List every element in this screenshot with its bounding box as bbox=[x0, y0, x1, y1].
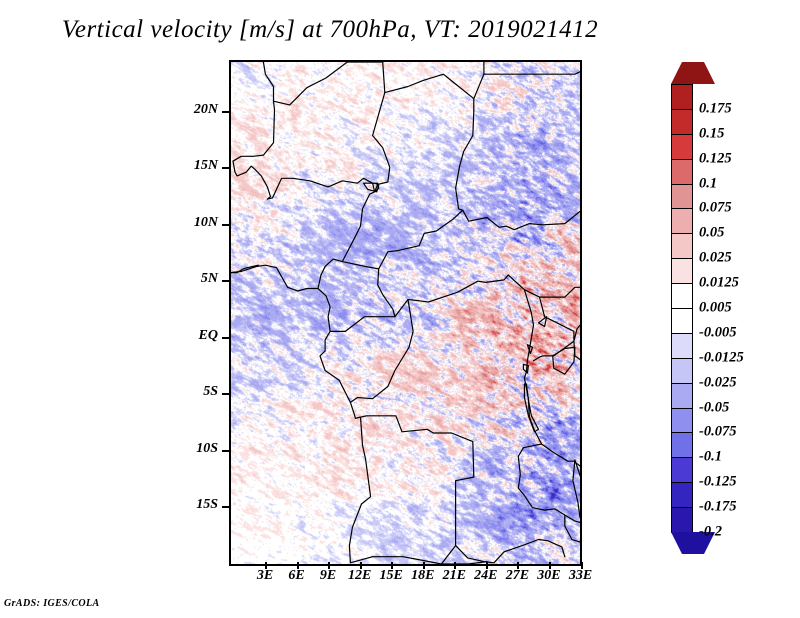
colorbar-label-13: -0.075 bbox=[699, 424, 736, 441]
colorbar-cell-14 bbox=[671, 432, 693, 458]
lon-label-24e: 24E bbox=[474, 568, 497, 584]
colorbar-cell-16 bbox=[671, 482, 693, 508]
colorbar-label-16: -0.175 bbox=[699, 499, 736, 516]
lon-label-9e: 9E bbox=[320, 568, 336, 584]
lat-tick-15s bbox=[222, 506, 229, 508]
colorbar-cell-1 bbox=[671, 109, 693, 135]
page-title: Vertical velocity [m/s] at 700hPa, VT: 2… bbox=[0, 16, 660, 44]
colorbar-label-11: -0.025 bbox=[699, 374, 736, 391]
lat-tick-20n bbox=[222, 111, 229, 113]
colorbar-max-arrow bbox=[671, 62, 715, 84]
colorbar-label-6: 0.025 bbox=[699, 250, 732, 267]
colorbar-label-12: -0.05 bbox=[699, 399, 729, 416]
colorbar-label-2: 0.125 bbox=[699, 150, 732, 167]
colorbar-cell-3 bbox=[671, 159, 693, 185]
lat-label-text: 5S bbox=[203, 384, 218, 400]
lat-tick-5s bbox=[222, 393, 229, 395]
lat-label-text: 15S bbox=[196, 497, 218, 513]
colorbar-label-1: 0.15 bbox=[699, 125, 724, 142]
colorbar-label-10: -0.0125 bbox=[699, 349, 744, 366]
colorbar-cell-2 bbox=[671, 134, 693, 160]
colorbar-label-14: -0.1 bbox=[699, 449, 722, 466]
colorbar-cell-6 bbox=[671, 233, 693, 259]
lat-label-text: 10N bbox=[194, 215, 218, 231]
colorbar bbox=[671, 62, 693, 554]
vertical-velocity-field bbox=[231, 62, 580, 564]
lon-label-6e: 6E bbox=[288, 568, 304, 584]
colorbar-label-8: 0.005 bbox=[699, 300, 732, 317]
colorbar-cell-12 bbox=[671, 383, 693, 409]
colorbar-label-3: 0.1 bbox=[699, 175, 717, 192]
colorbar-label-9: -0.005 bbox=[699, 324, 736, 341]
lon-label-12e: 12E bbox=[348, 568, 371, 584]
lat-label-text: EQ bbox=[199, 328, 218, 344]
lon-label-30e: 30E bbox=[537, 568, 560, 584]
colorbar-cell-0 bbox=[671, 84, 693, 110]
lon-label-3e: 3E bbox=[257, 568, 273, 584]
lat-tick-eq bbox=[222, 337, 229, 339]
colorbar-cell-4 bbox=[671, 184, 693, 210]
lat-label-text: 20N bbox=[194, 102, 218, 118]
colorbar-cell-13 bbox=[671, 408, 693, 434]
grads-plot-page: Vertical velocity [m/s] at 700hPa, VT: 2… bbox=[0, 0, 800, 618]
lon-label-18e: 18E bbox=[411, 568, 434, 584]
lat-label-text: 5N bbox=[201, 271, 218, 287]
lat-tick-10s bbox=[222, 450, 229, 452]
colorbar-cell-11 bbox=[671, 358, 693, 384]
colorbar-cell-15 bbox=[671, 457, 693, 483]
colorbar-label-17: -0.2 bbox=[699, 524, 722, 541]
colorbar-cell-10 bbox=[671, 333, 693, 359]
colorbar-cell-9 bbox=[671, 308, 693, 334]
colorbar-label-5: 0.05 bbox=[699, 225, 724, 242]
colorbar-label-0: 0.175 bbox=[699, 100, 732, 117]
map-panel bbox=[229, 60, 582, 566]
lat-tick-10n bbox=[222, 224, 229, 226]
colorbar-label-15: -0.125 bbox=[699, 474, 736, 491]
colorbar-cell-8 bbox=[671, 283, 693, 309]
colorbar-cell-7 bbox=[671, 258, 693, 284]
grads-watermark: GrADS: IGES/COLA bbox=[4, 598, 100, 609]
lat-tick-15n bbox=[222, 167, 229, 169]
colorbar-label-4: 0.075 bbox=[699, 200, 732, 217]
lon-label-27e: 27E bbox=[506, 568, 529, 584]
lat-label-text: 15N bbox=[194, 158, 218, 174]
lat-label-text: 10S bbox=[196, 441, 218, 457]
lon-label-21e: 21E bbox=[443, 568, 466, 584]
lon-label-15e: 15E bbox=[380, 568, 403, 584]
colorbar-cell-17 bbox=[671, 507, 693, 533]
colorbar-label-7: 0.0125 bbox=[699, 275, 739, 292]
lon-label-33e: 33E bbox=[569, 568, 592, 584]
colorbar-cell-5 bbox=[671, 208, 693, 234]
lat-tick-5n bbox=[222, 280, 229, 282]
